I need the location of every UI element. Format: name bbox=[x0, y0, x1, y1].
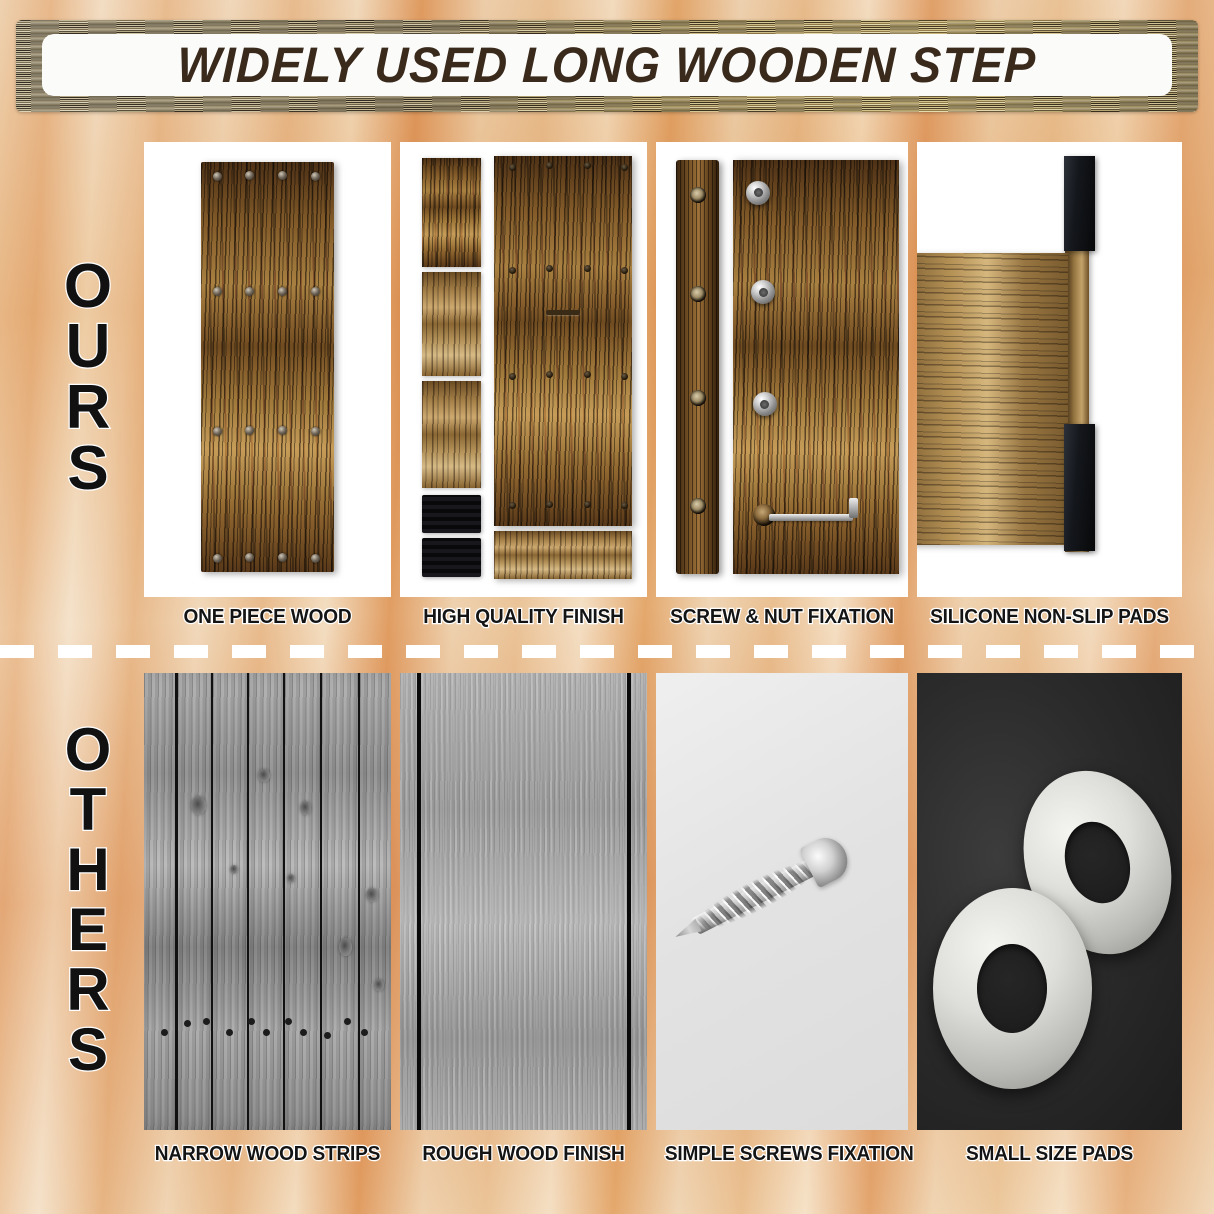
silicone-ring-lower bbox=[933, 888, 1092, 1089]
silicone-pad-bottom bbox=[1064, 424, 1094, 551]
section-label-others: O T H E R S bbox=[50, 690, 126, 1110]
board-face bbox=[733, 160, 899, 574]
others-image-row bbox=[144, 673, 1182, 1130]
board-side-edge bbox=[676, 160, 719, 574]
section-divider bbox=[0, 645, 1214, 658]
caption-narrow-wood-strips: NARROW WOOD STRIPS bbox=[153, 1142, 383, 1166]
wood-swatch-light bbox=[422, 381, 481, 488]
header-banner: WIDELY USED LONG WOODEN STEP bbox=[16, 20, 1198, 112]
ours-image-row bbox=[144, 142, 1182, 597]
ours-letter-u: U bbox=[66, 317, 111, 378]
photo-screw-nut-fixation bbox=[656, 142, 908, 597]
others-letter-e: E bbox=[68, 900, 108, 960]
rubber-pad-sample-2 bbox=[422, 538, 481, 577]
others-letter-s2: S bbox=[68, 1020, 108, 1080]
silicone-pad-top bbox=[1064, 156, 1094, 252]
wood-swatch-dark bbox=[422, 158, 481, 267]
others-letter-r: R bbox=[66, 960, 109, 1020]
rough-wood-texture bbox=[400, 673, 647, 1130]
others-caption-row: NARROW WOOD STRIPS ROUGH WOOD FINISH SIM… bbox=[144, 1142, 1182, 1166]
others-letter-t: T bbox=[70, 780, 107, 840]
others-letter-o: O bbox=[65, 720, 112, 780]
ours-letter-r: R bbox=[66, 378, 111, 439]
caption-simple-screws-fixation: SIMPLE SCREWS FIXATION bbox=[665, 1142, 899, 1166]
caption-silicone-pads: SILICONE NON-SLIP PADS bbox=[926, 605, 1172, 629]
photo-one-piece-wood bbox=[144, 142, 391, 597]
finished-board-edge bbox=[494, 531, 632, 579]
page-title: WIDELY USED LONG WOODEN STEP bbox=[177, 36, 1038, 94]
ours-letter-o: O bbox=[64, 257, 112, 318]
finished-board bbox=[494, 156, 632, 527]
photo-narrow-wood-strips bbox=[144, 673, 391, 1130]
caption-small-size-pads: SMALL SIZE PADS bbox=[926, 1142, 1172, 1166]
others-letter-h: H bbox=[66, 840, 109, 900]
photo-high-quality-finish bbox=[400, 142, 647, 597]
caption-rough-wood-finish: ROUGH WOOD FINISH bbox=[409, 1142, 639, 1166]
photo-silicone-pads bbox=[917, 142, 1182, 597]
photo-simple-screws-fixation bbox=[656, 673, 908, 1130]
wood-swatch-mid bbox=[422, 272, 481, 377]
photo-rough-wood-finish bbox=[400, 673, 647, 1130]
nut-3 bbox=[753, 392, 777, 416]
banner-plate: WIDELY USED LONG WOODEN STEP bbox=[42, 34, 1172, 96]
nut-2 bbox=[751, 280, 775, 304]
wood-plank bbox=[201, 162, 334, 572]
caption-high-quality-finish: HIGH QUALITY FINISH bbox=[409, 605, 639, 629]
rubber-pad-sample-1 bbox=[422, 495, 481, 534]
nut-1 bbox=[746, 181, 770, 205]
bolt-head bbox=[849, 498, 858, 518]
caption-one-piece-wood: ONE PIECE WOOD bbox=[153, 605, 383, 629]
photo-small-size-pads bbox=[917, 673, 1182, 1130]
bolt-shaft bbox=[769, 514, 852, 521]
ours-caption-row: ONE PIECE WOOD HIGH QUALITY FINISH SCREW… bbox=[144, 605, 1182, 629]
caption-screw-nut-fixation: SCREW & NUT FIXATION bbox=[665, 605, 899, 629]
infographic-canvas: WIDELY USED LONG WOODEN STEP O U R S O T… bbox=[0, 0, 1214, 1214]
ours-letter-s: S bbox=[67, 439, 108, 500]
section-label-ours: O U R S bbox=[50, 228, 126, 528]
board-top-surface bbox=[917, 253, 1068, 544]
